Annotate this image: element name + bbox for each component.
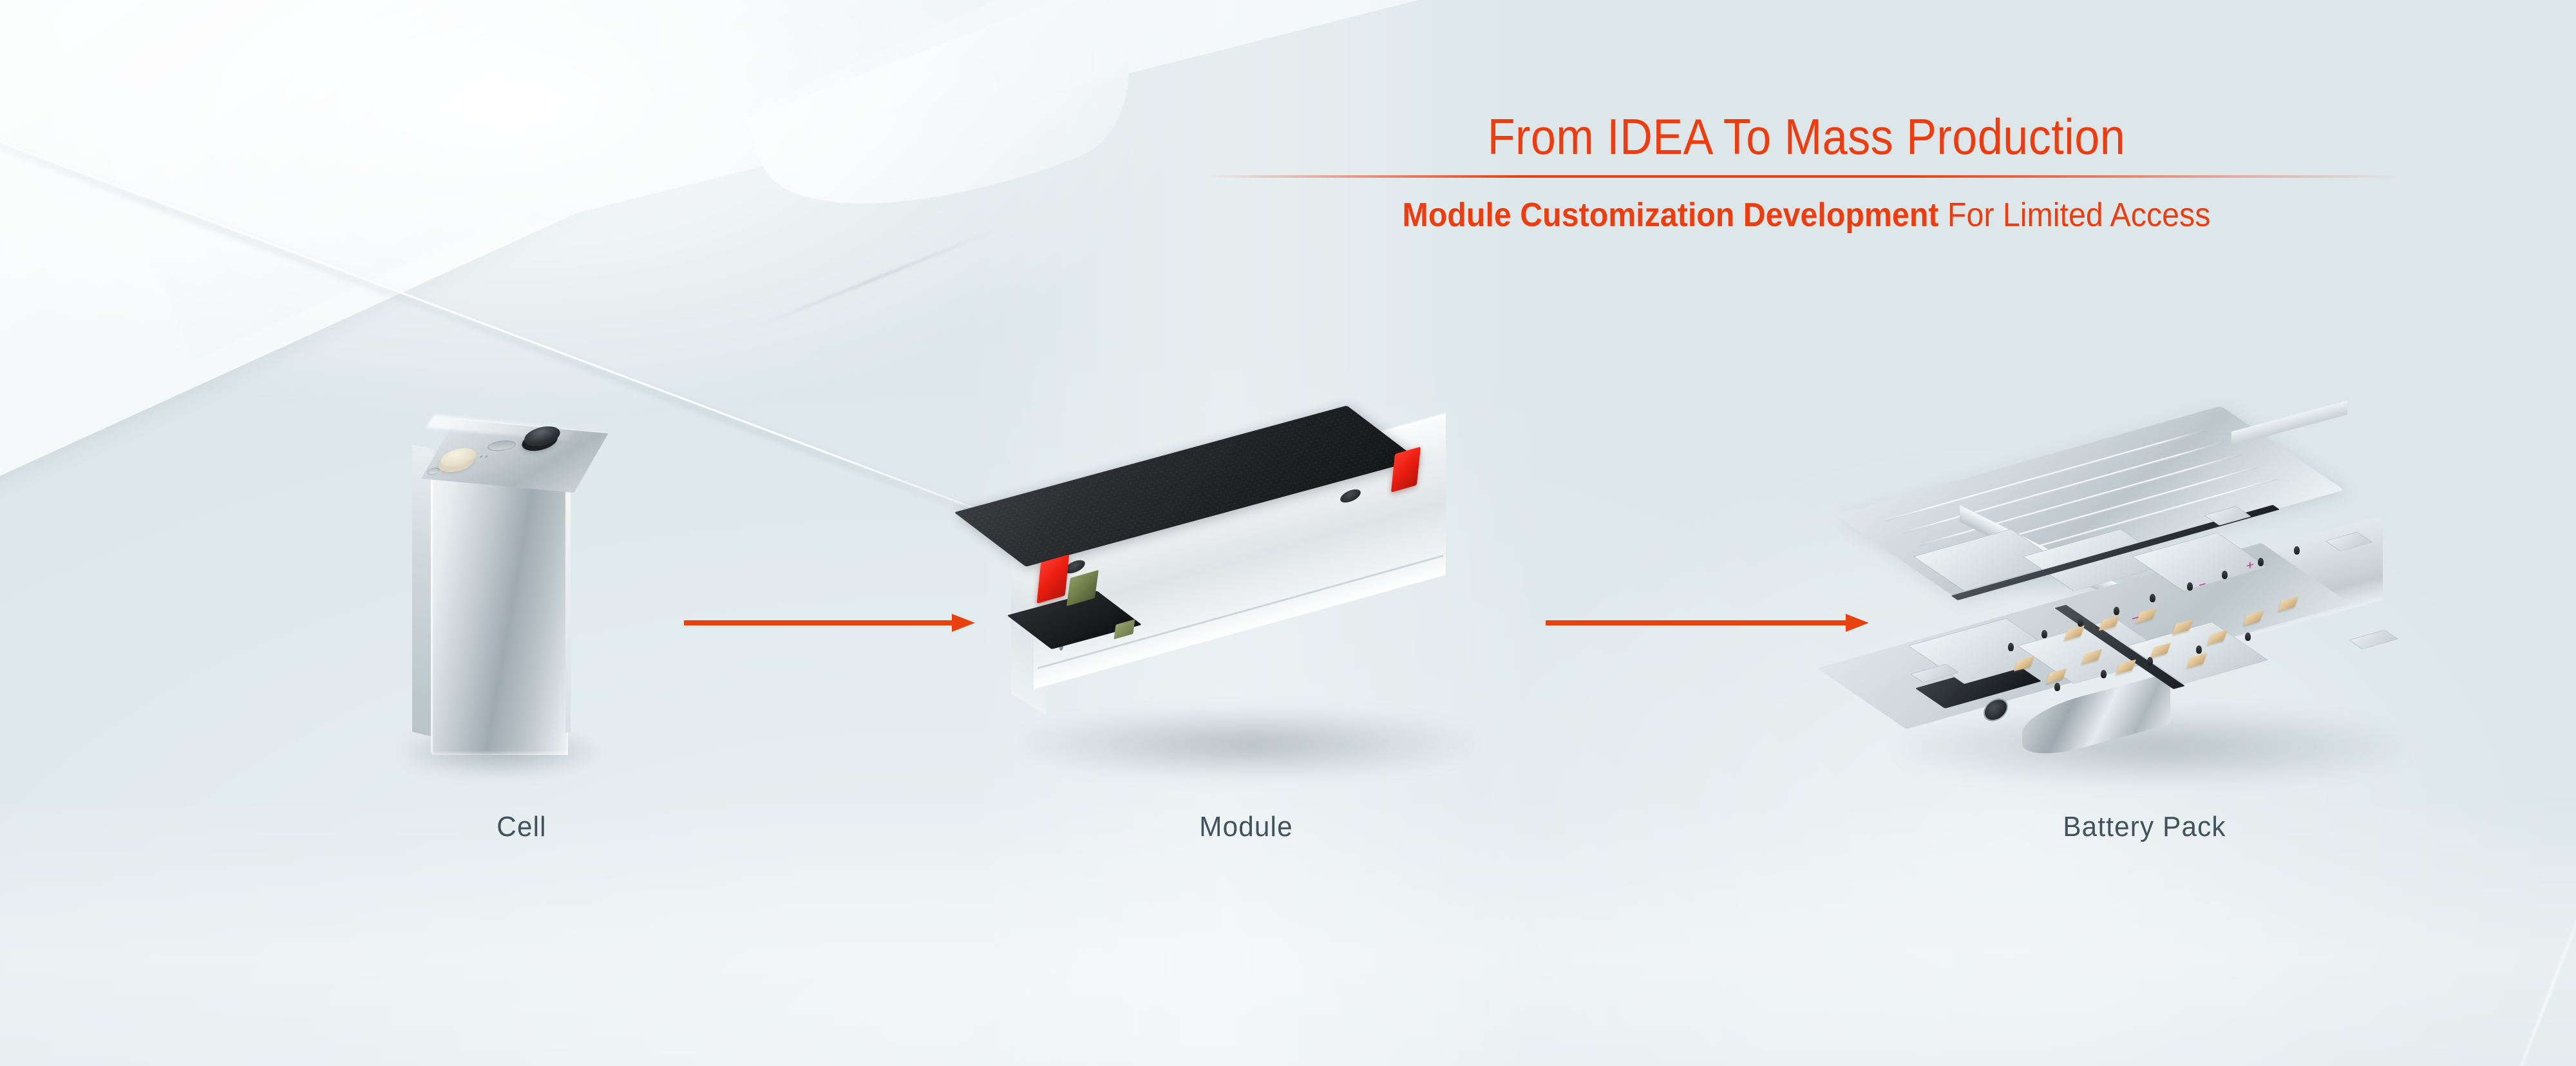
arrow-cell-to-module (684, 614, 975, 632)
pack-stud (2041, 630, 2047, 638)
cell-laser-marking (478, 455, 490, 459)
pack-lid-rib (1882, 430, 2206, 522)
pack-stud (2187, 582, 2193, 591)
battery-product-lineup-banner: From IDEA To Mass Production Module Cust… (0, 0, 2576, 1066)
pack-stud (2294, 546, 2300, 555)
pack-stud (2245, 633, 2251, 641)
pack-stud (2114, 607, 2119, 615)
pack-polarity-plus-mark: + (2246, 558, 2254, 573)
pack-stud (2078, 618, 2083, 627)
pack-stud (2222, 571, 2228, 579)
headline-subtitle: Module Customization Development For Lim… (1253, 196, 2361, 234)
pack-stud (2008, 643, 2014, 651)
pack-lid-side-edge (2231, 401, 2347, 446)
product-battery-pack[interactable]: + − − (1861, 406, 2428, 805)
caption-module: Module (1011, 810, 1481, 844)
product-cell[interactable] (412, 419, 631, 779)
pack-stud (2150, 594, 2155, 602)
arrow-head-icon (952, 614, 975, 632)
pack-stud (2258, 558, 2264, 566)
headline-block: From IDEA To Mass Production Module Cust… (1211, 109, 2402, 234)
page-title: From IDEA To Mass Production (1271, 109, 2343, 164)
headline-subtitle-light: For Limited Access (1938, 196, 2210, 234)
arrow-module-to-pack (1546, 614, 1869, 632)
caption-cell: Cell (417, 810, 627, 844)
pack-stud (2101, 670, 2107, 678)
headline-subtitle-strong: Module Customization Development (1403, 196, 1939, 234)
arrow-shaft (684, 620, 954, 625)
headline-divider (1211, 175, 2402, 178)
caption-battery-pack: Battery Pack (1873, 810, 2417, 844)
pack-stud (2147, 657, 2153, 665)
module-ground-shadow (1021, 709, 1472, 779)
cell-corner-highlight (431, 461, 433, 752)
pack-polarity-minus-mark: − (2199, 577, 2206, 592)
pack-mounting-tab (2349, 630, 2398, 649)
product-module[interactable] (1001, 451, 1491, 786)
pack-polarity-minus-mark: − (2132, 611, 2139, 625)
pack-lid-rib (1900, 442, 2224, 534)
cell-front-face (431, 465, 568, 755)
pack-stud (2054, 683, 2060, 691)
arrow-shaft (1546, 620, 1848, 625)
pack-stud (2196, 645, 2202, 654)
